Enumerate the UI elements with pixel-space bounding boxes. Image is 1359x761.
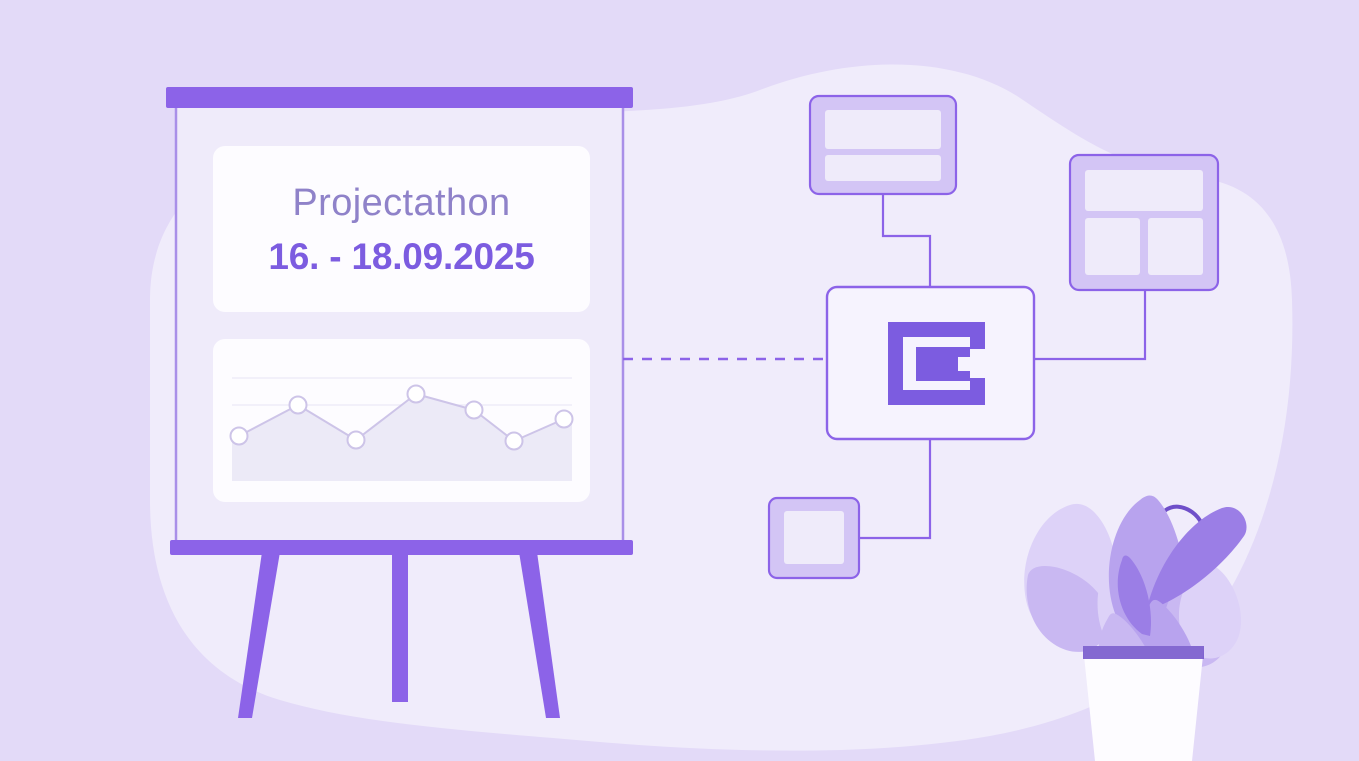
plant-pot	[1083, 646, 1204, 761]
card-bottom-left[interactable]	[769, 498, 859, 578]
chart-point	[556, 411, 573, 428]
header-two-column-layout-icon-header	[1085, 170, 1203, 211]
chart-point	[348, 432, 365, 449]
two-row-layout-icon	[825, 110, 941, 149]
card-right[interactable]	[1070, 155, 1218, 290]
header-two-column-layout-icon-right	[1148, 218, 1203, 275]
two-row-layout-icon-secondary	[825, 155, 941, 181]
title-card	[213, 146, 590, 312]
chart-point	[466, 402, 483, 419]
chart-point	[231, 428, 248, 445]
easel-top-bar	[166, 87, 633, 108]
scene-svg	[0, 0, 1359, 761]
easel-leg-center	[392, 552, 408, 702]
chart-point	[506, 433, 523, 450]
header-two-column-layout-icon-left	[1085, 218, 1140, 275]
illustration-canvas	[0, 0, 1359, 761]
card-top-left[interactable]	[810, 96, 956, 194]
chart-point	[408, 386, 425, 403]
plant-pot-rim	[1083, 646, 1204, 659]
single-block-layout-icon	[784, 511, 844, 564]
logo-node[interactable]	[827, 287, 1034, 439]
easel-bottom-bar	[170, 540, 633, 555]
chart-point	[290, 397, 307, 414]
